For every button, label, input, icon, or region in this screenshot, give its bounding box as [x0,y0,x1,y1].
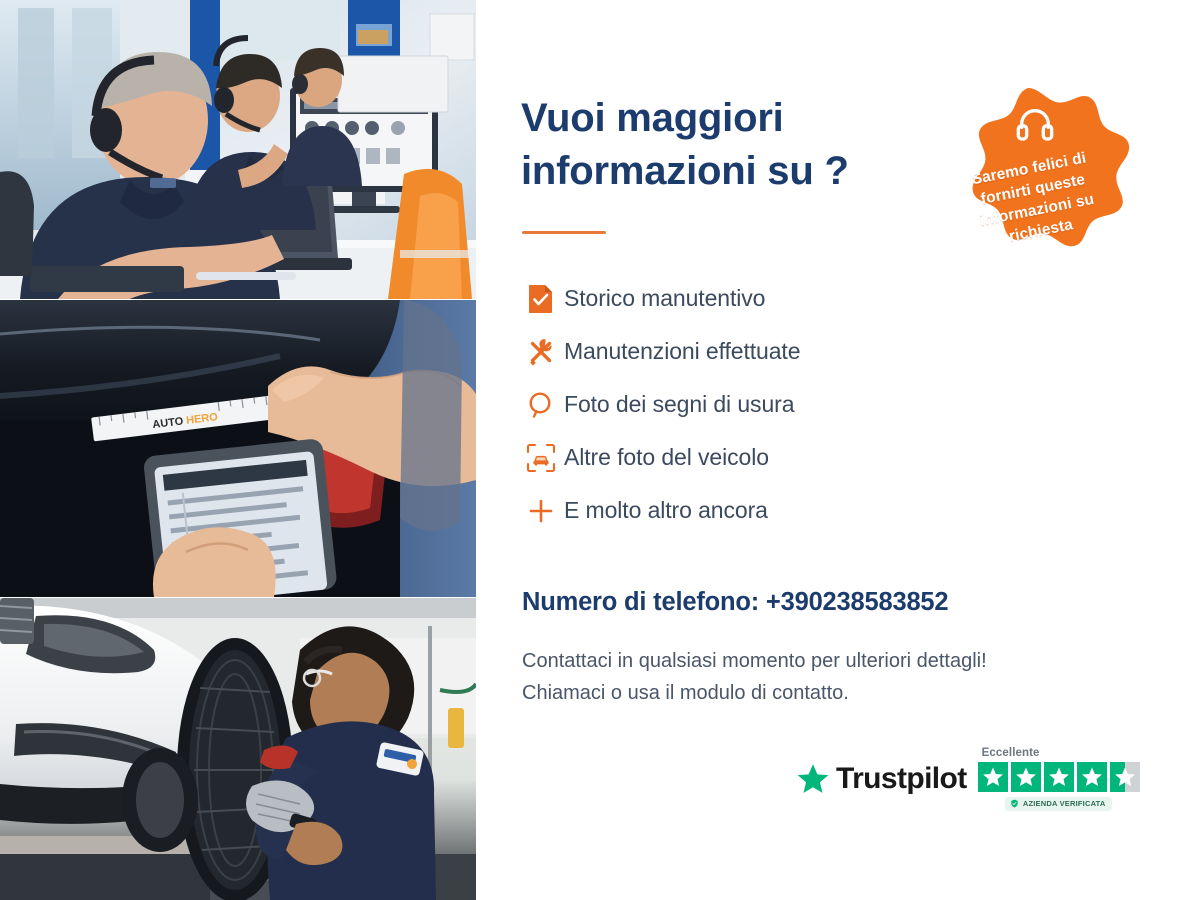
star-filled [978,762,1008,792]
rating-label: Eccellente [982,747,1040,759]
crossed-tools-icon [518,332,564,372]
photo-vehicle-inspection: AUTO HERO [0,300,476,597]
feature-item: Altre foto del veicolo [518,431,938,484]
star-filled [1077,762,1107,792]
star-half [1110,762,1140,792]
trustpilot-widget[interactable]: Trustpilot Eccellente [796,747,1140,811]
feature-list: Storico manutentivo Manutenzioni effettu… [518,272,938,537]
verified-business-badge: AZIENDA VERIFICATA [1005,797,1113,811]
star-filled [1044,762,1074,792]
feature-item: Storico manutentivo [518,272,938,325]
feature-item: Manutenzioni effettuate [518,325,938,378]
document-check-icon [518,279,564,319]
feature-label: Altre foto del veicolo [564,444,769,471]
contact-note: Contattaci in qualsiasi momento per ulte… [522,645,1122,710]
verified-label: AZIENDA VERIFICATA [1023,799,1106,808]
contact-note-line-1: Contattaci in qualsiasi momento per ulte… [522,645,1122,677]
content-panel: Vuoi maggiori informazioni su ? Saremo f… [476,0,1200,900]
plus-icon [518,491,564,531]
feature-label: Manutenzioni effettuate [564,338,800,365]
shield-check-icon [1010,799,1019,808]
feature-label: E molto altro ancora [564,497,768,524]
magnifier-icon [518,385,564,425]
feature-label: Storico manutentivo [564,285,765,312]
headline-line-2: informazioni su ? [521,149,849,193]
contact-note-line-2: Chiamaci o usa il modulo di contatto. [522,677,1122,709]
rating-stars [978,762,1140,792]
phone-number-heading: Numero di telefono: +390238583852 [522,588,948,617]
photo-call-center [0,0,476,299]
feature-item: E molto altro ancora [518,484,938,537]
page-title: Vuoi maggiori informazioni su ? [521,92,951,198]
headline-line-1: Vuoi maggiori [521,96,784,140]
photo-mechanic-wheel [0,598,476,900]
trustpilot-star-icon [796,762,830,796]
trustpilot-wordmark: Trustpilot [836,762,967,796]
star-filled [1011,762,1041,792]
trustpilot-logo: Trustpilot [796,762,967,796]
feature-label: Foto dei segni di usura [564,391,794,418]
promo-page: AUTO HERO [0,0,1200,900]
photo-column: AUTO HERO [0,0,476,900]
headset-icon [1015,104,1055,144]
trustpilot-rating: Eccellente [978,747,1140,811]
service-promise-badge: Saremo felici di fornirti queste informa… [937,76,1133,288]
title-accent-rule [522,231,606,234]
feature-item: Foto dei segni di usura [518,378,938,431]
car-scan-icon [518,438,564,478]
